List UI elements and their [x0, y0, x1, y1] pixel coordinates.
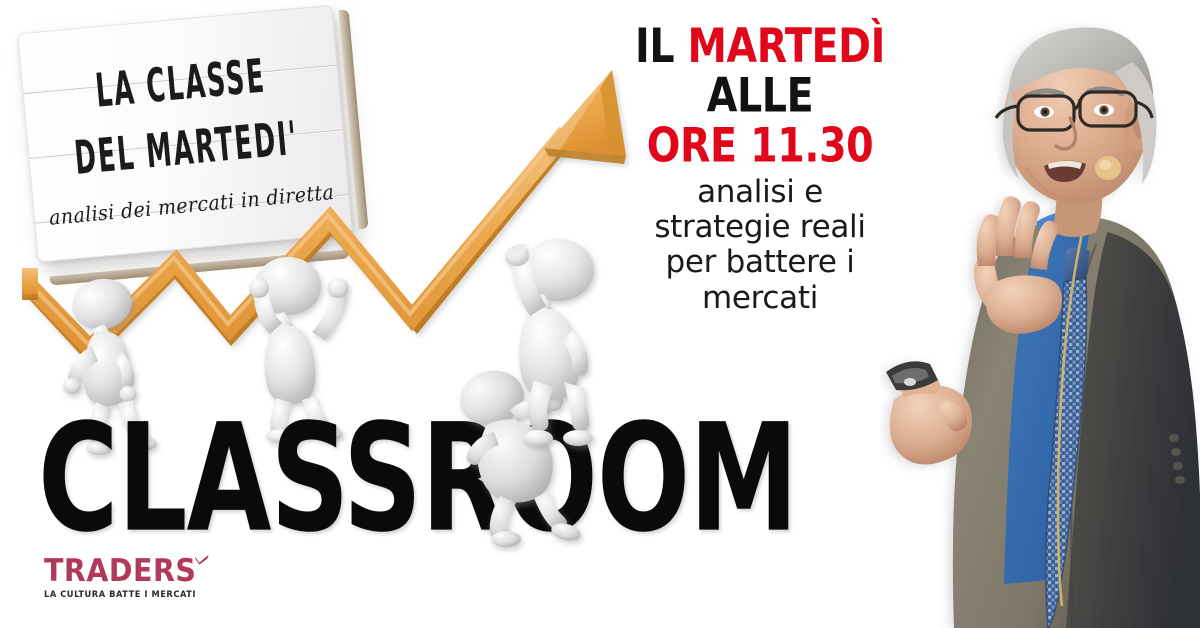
brand-wordmark-text: TRADERS [44, 553, 196, 589]
subtitle-line-1: analisi e [610, 175, 910, 210]
headline-line-2: ALLE [610, 72, 910, 122]
headline-line-1: IL MARTEDÌ [610, 22, 910, 72]
headline-line-3: ORE 11.30 [610, 122, 910, 172]
headline-martedi: MARTEDÌ [688, 19, 885, 74]
arrow-tail-cap [22, 268, 38, 294]
headline-block: IL MARTEDÌ ALLE ORE 11.30 analisi e stra… [610, 22, 910, 316]
brand-logo[interactable]: TRADERS LA CULTURA BATTE I MERCATI [44, 556, 224, 600]
headline-subtitle: analisi e strategie reali per battere i … [610, 175, 910, 316]
brand-wordmark: TRADERS [44, 556, 196, 586]
subtitle-line-3: per battere i [610, 245, 910, 280]
speaker-photo [880, 0, 1200, 628]
subtitle-line-2: strategie reali [610, 210, 910, 245]
headline-lines: IL MARTEDÌ ALLE ORE 11.30 [610, 22, 910, 172]
headline-il: IL [635, 19, 674, 74]
page-title: CLASSROOM [38, 404, 797, 553]
subtitle-line-4: mercati [610, 281, 910, 316]
brand-tagline: LA CULTURA BATTE I MERCATI [44, 589, 224, 600]
hand-with-clicker [886, 361, 972, 464]
poster-canvas: LA CLASSE DEL MARTEDI' analisi dei merca… [0, 0, 1200, 628]
check-swoosh-icon [195, 554, 209, 565]
